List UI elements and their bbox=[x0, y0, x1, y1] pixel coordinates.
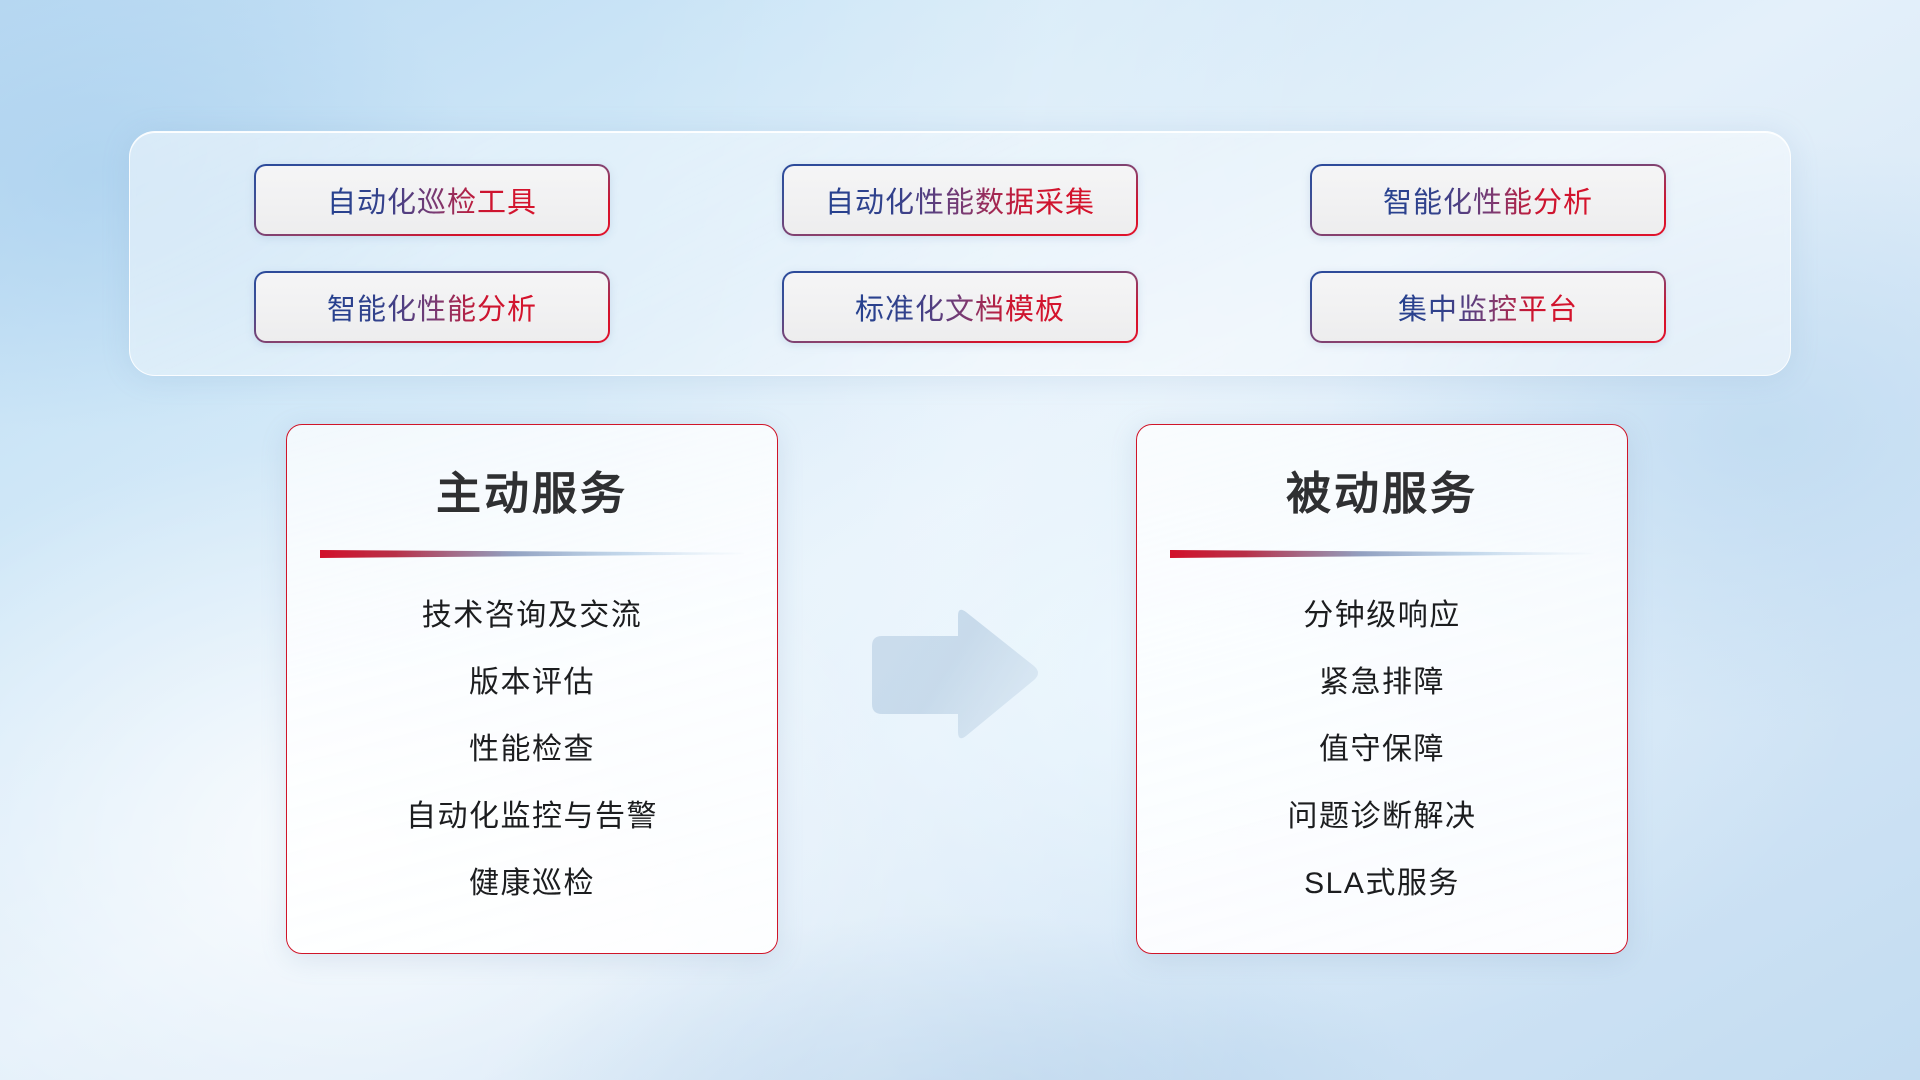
capability-pill-surface: 智能化性能分析 bbox=[256, 273, 608, 341]
service-list-item: 自动化监控与告警 bbox=[287, 788, 777, 846]
service-list-item: 问题诊断解决 bbox=[1137, 788, 1627, 846]
capability-tools-panel: 自动化巡检工具 自动化性能数据采集 智能化性能分析 智能化性能分析 标准化文档模… bbox=[129, 131, 1791, 376]
service-list-item: SLA式服务 bbox=[1137, 855, 1627, 913]
capability-pill-label: 标准化文档模板 bbox=[855, 286, 1065, 328]
capability-pill[interactable]: 集中监控平台 bbox=[1310, 271, 1666, 343]
capability-pill[interactable]: 自动化巡检工具 bbox=[254, 164, 610, 236]
service-card-active: 主动服务 技术咨询及交流 版本评估 性能检查 自动化监控与告警 健康巡检 bbox=[286, 424, 778, 954]
service-list-item: 分钟级响应 bbox=[1137, 587, 1627, 645]
capability-pill[interactable]: 智能化性能分析 bbox=[1310, 164, 1666, 236]
capability-pill-surface: 标准化文档模板 bbox=[784, 273, 1136, 341]
capability-pill[interactable]: 自动化性能数据采集 bbox=[782, 164, 1138, 236]
capability-pill-label: 智能化性能分析 bbox=[327, 286, 537, 328]
service-list-item: 健康巡检 bbox=[287, 855, 777, 913]
capability-pill-surface: 自动化巡检工具 bbox=[256, 166, 608, 234]
service-list-item: 性能检查 bbox=[287, 721, 777, 779]
card-divider bbox=[1170, 547, 1594, 561]
capability-pill-label: 自动化巡检工具 bbox=[327, 179, 537, 221]
capability-pill-grid: 自动化巡检工具 自动化性能数据采集 智能化性能分析 智能化性能分析 标准化文档模… bbox=[130, 132, 1790, 375]
service-list-item: 版本评估 bbox=[287, 654, 777, 712]
service-list-item: 技术咨询及交流 bbox=[287, 587, 777, 645]
card-title: 被动服务 bbox=[1137, 457, 1627, 522]
capability-pill-surface: 集中监控平台 bbox=[1312, 273, 1664, 341]
capability-pill[interactable]: 智能化性能分析 bbox=[254, 271, 610, 343]
capability-pill-label: 集中监控平台 bbox=[1398, 286, 1578, 328]
card-title: 主动服务 bbox=[287, 457, 777, 522]
service-card-passive: 被动服务 分钟级响应 紧急排障 值守保障 问题诊断解决 SLA式服务 bbox=[1136, 424, 1628, 954]
service-list-item: 值守保障 bbox=[1137, 721, 1627, 779]
service-item-list: 技术咨询及交流 版本评估 性能检查 自动化监控与告警 健康巡检 bbox=[287, 587, 777, 922]
card-divider bbox=[320, 547, 744, 561]
capability-pill-label: 智能化性能分析 bbox=[1383, 179, 1593, 221]
capability-pill-surface: 自动化性能数据采集 bbox=[784, 166, 1136, 234]
service-item-list: 分钟级响应 紧急排障 值守保障 问题诊断解决 SLA式服务 bbox=[1137, 587, 1627, 922]
capability-pill-label: 自动化性能数据采集 bbox=[825, 179, 1095, 221]
capability-pill[interactable]: 标准化文档模板 bbox=[782, 271, 1138, 343]
right-arrow-icon bbox=[862, 604, 1042, 746]
service-list-item: 紧急排障 bbox=[1137, 654, 1627, 712]
capability-pill-surface: 智能化性能分析 bbox=[1312, 166, 1664, 234]
